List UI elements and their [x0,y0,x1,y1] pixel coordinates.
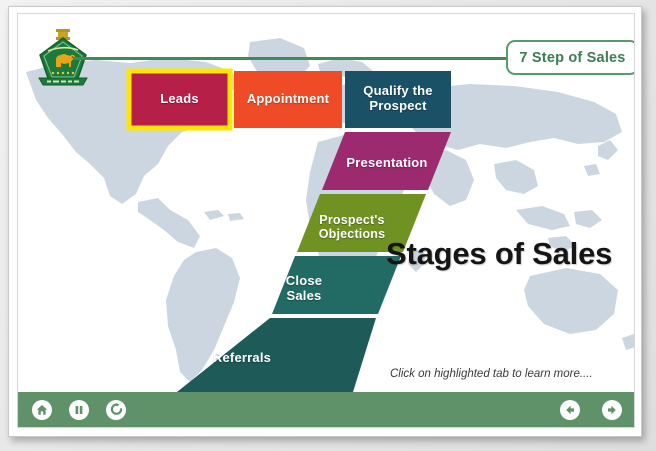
funnel-step-referrals-shape [177,318,376,392]
funnel-step-presentation-shape [322,132,451,190]
previous-button[interactable] [560,400,580,420]
sales-funnel: Leads Appointment Qualify the Prospect P… [18,14,635,394]
funnel-step-close-sales-shape [272,256,401,314]
pause-button[interactable] [69,400,89,420]
replay-button[interactable] [106,400,126,420]
player-controls-right [560,400,622,420]
player-toolbar [18,392,635,427]
screenshot-root: 7 Step of Sales Leads Appointme [0,0,656,451]
slide-frame: 7 Step of Sales Leads Appointme [8,6,642,437]
pause-icon [73,404,85,416]
replay-icon [110,403,123,416]
player-controls-left [32,400,126,420]
home-button[interactable] [32,400,52,420]
funnel-step-leads-shape [129,71,230,128]
arrow-right-icon [606,404,618,416]
page-title: Stages of Sales [386,236,612,272]
funnel-step-appointment-shape [234,71,342,128]
arrow-left-icon [564,404,576,416]
funnel-step-qualify-shape [345,71,451,128]
slide-stage: 7 Step of Sales Leads Appointme [17,13,635,428]
home-icon [36,404,48,416]
instruction-text: Click on highlighted tab to learn more..… [390,368,593,380]
next-button[interactable] [602,400,622,420]
